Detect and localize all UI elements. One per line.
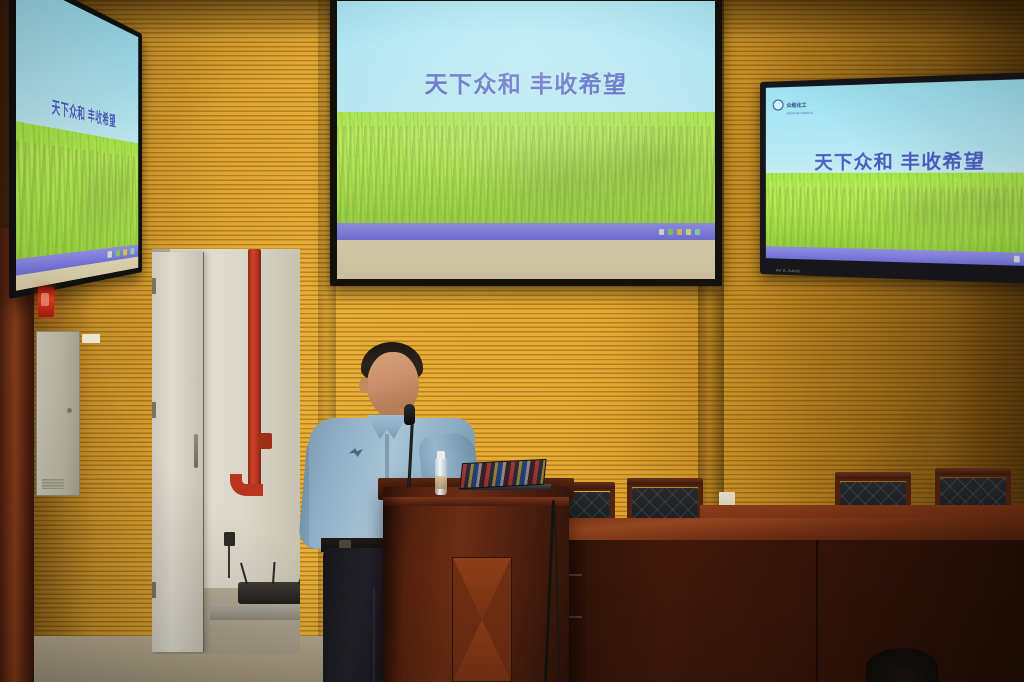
slide-tray-icons	[1014, 256, 1024, 263]
table-panel-seam	[816, 540, 818, 682]
laptop-lid-with-stickers[interactable]	[459, 459, 546, 489]
projection-screen: 天下众和 丰收希望	[330, 0, 722, 286]
slide-desktop-band	[337, 240, 715, 279]
audience-member-head	[866, 648, 938, 682]
main-slide-title: 天下众和 丰收希望	[337, 65, 715, 99]
bottle-label	[435, 476, 447, 489]
shirt-logo-icon	[349, 448, 363, 457]
chair-top-rail	[835, 472, 911, 479]
electrical-panel	[36, 331, 80, 496]
tv-left-slide: 天下众和 丰收希望	[16, 0, 138, 291]
bottle-cap	[437, 451, 445, 459]
pipe-valve	[258, 433, 272, 449]
slide-grass	[337, 112, 715, 237]
corridor-power-outlet	[224, 532, 235, 546]
equipment-shelf	[210, 604, 300, 620]
projection-screen-inner: 天下众和 丰收希望	[337, 1, 715, 279]
fire-alarm-strobe-icon	[38, 287, 54, 317]
door-handle[interactable]	[194, 434, 198, 468]
chair-top-rail	[935, 468, 1011, 475]
water-bottle	[435, 458, 447, 495]
door-hinge	[152, 278, 156, 294]
microphone-icon	[404, 404, 415, 425]
slide-taskbar	[337, 223, 715, 240]
power-cord	[228, 546, 230, 578]
panel-label-tag	[82, 334, 100, 343]
tv-left-bezel: 天下众和 丰收希望	[16, 0, 138, 291]
podium-front-lip	[383, 497, 569, 506]
conference-table-front	[548, 540, 1024, 682]
door-leaf[interactable]	[152, 252, 204, 652]
podium-side-shadow	[383, 497, 403, 682]
logo-subtext: ZHONGHE CHEMICAL	[787, 112, 814, 116]
company-logo: 众和化工 ZHONGHE CHEMICAL	[773, 93, 814, 115]
logo-text: 众和化工	[787, 103, 807, 110]
tv-right-slide: 众和化工 ZHONGHE CHEMICAL 天下众和 丰收希望	[766, 79, 1024, 267]
wifi-router	[238, 582, 300, 604]
tv-right-bezel: 众和化工 ZHONGHE CHEMICAL 天下众和 丰收希望	[766, 79, 1024, 267]
conference-room-scene: 天下众和 丰收希望	[0, 0, 1024, 682]
logo-mark-icon	[773, 99, 784, 110]
tv-right-slide-title: 天下众和 丰收希望	[766, 146, 1024, 175]
presenter-ear	[359, 378, 368, 393]
chair-top-rail	[627, 478, 703, 485]
panel-vent	[42, 479, 64, 489]
door-hinge	[152, 402, 156, 418]
slide-grass	[766, 172, 1024, 253]
open-doorway	[152, 249, 300, 654]
wall-tv-left: 天下众和 丰收希望	[9, 0, 142, 299]
tv-bezel-label: AV E-SAVE	[776, 268, 801, 274]
slide-tray-icons	[659, 229, 700, 235]
fire-sprinkler-pipe	[248, 249, 261, 492]
wall-tv-right: 众和化工 ZHONGHE CHEMICAL 天下众和 丰收希望 AV E-SAV…	[760, 72, 1024, 285]
door-hinge	[152, 582, 156, 598]
main-slide: 天下众和 丰收希望	[337, 1, 715, 279]
podium-inlay-panel	[452, 557, 512, 682]
panel-lock-icon	[67, 408, 72, 413]
